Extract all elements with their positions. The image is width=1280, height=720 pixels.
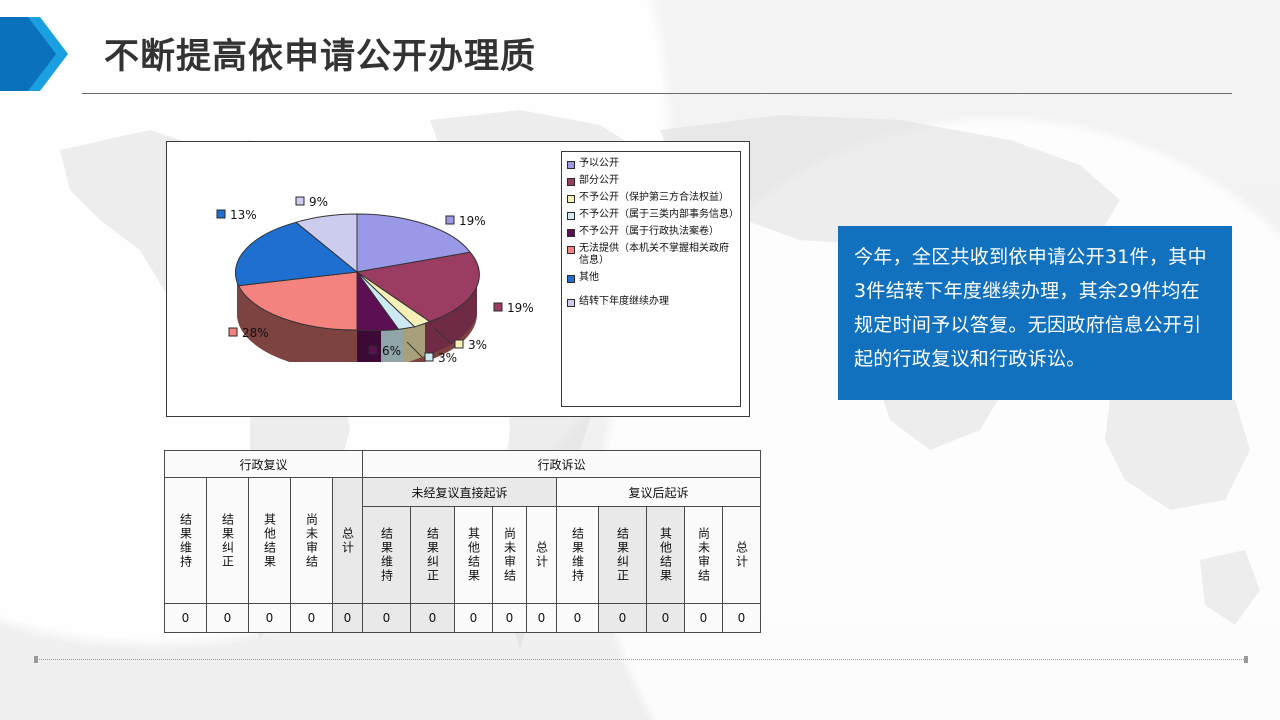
footer-dot-left-icon xyxy=(34,656,38,663)
svg-text:13%: 13% xyxy=(230,208,257,222)
chart-legend: 予以公开 部分公开 不予公开（保护第三方合法权益） 不予公开（属于三类内部事务信… xyxy=(561,151,741,407)
legend-item: 其他 xyxy=(567,272,736,284)
page-title: 不断提高依申请公开办理质 xyxy=(104,28,536,79)
pie-chart: 19% 19% 3% 3% 6% 28% 13% 9% xyxy=(167,142,557,416)
table-cell: 0 xyxy=(455,604,493,633)
legend-item: 不予公开（属于三类内部事务信息） xyxy=(567,209,736,221)
table-column-header: 总计 xyxy=(333,478,363,604)
table-column-header: 结果维持 xyxy=(165,478,207,604)
table-cell: 0 xyxy=(647,604,685,633)
table-group-header-cell: 行政复议 xyxy=(165,451,363,478)
svg-text:19%: 19% xyxy=(459,214,486,228)
table-column-header: 结果维持 xyxy=(363,507,411,604)
table-cell: 0 xyxy=(493,604,527,633)
legend-item: 予以公开 xyxy=(567,158,736,170)
legend-label: 无法提供（本机关不掌握相关政府信息） xyxy=(579,243,736,267)
table-cell: 0 xyxy=(363,604,411,633)
svg-text:3%: 3% xyxy=(438,351,457,365)
table-cell: 0 xyxy=(207,604,249,633)
summary-callout-box: 今年，全区共收到依申请公开31件，其中3件结转下年度继续办理，其余29件均在规定… xyxy=(838,226,1232,400)
legend-item: 不予公开（属于行政执法案卷） xyxy=(567,226,736,238)
svg-text:3%: 3% xyxy=(468,338,487,352)
summary-callout-text: 今年，全区共收到依申请公开31件，其中3件结转下年度继续办理，其余29件均在规定… xyxy=(854,240,1216,376)
pie-chart-panel: 19% 19% 3% 3% 6% 28% 13% 9% xyxy=(166,141,750,417)
table-column-header: 其他结果 xyxy=(455,507,493,604)
legend-swatch-icon xyxy=(567,246,575,254)
chevron-decoration-icon xyxy=(0,17,78,91)
legend-swatch-icon xyxy=(567,195,575,203)
table-group-header-row: 行政复议 行政诉讼 xyxy=(165,451,761,478)
legend-label: 不予公开（属于行政执法案卷） xyxy=(579,226,719,238)
table-cell: 0 xyxy=(249,604,291,633)
table-cell: 0 xyxy=(333,604,363,633)
table-sub-header-cell: 复议后起诉 xyxy=(557,478,761,507)
svg-text:9%: 9% xyxy=(309,195,328,209)
footer-divider xyxy=(36,659,1246,661)
legend-label: 其他 xyxy=(579,272,599,284)
legend-label: 结转下年度继续办理 xyxy=(579,296,669,308)
table-column-header: 尚未审结 xyxy=(291,478,333,604)
table-cell: 0 xyxy=(599,604,647,633)
footer-dot-right-icon xyxy=(1244,656,1248,663)
table-column-header: 尚未审结 xyxy=(685,507,723,604)
table-column-header: 结果纠正 xyxy=(207,478,249,604)
legend-swatch-icon xyxy=(567,229,575,237)
legend-swatch-icon xyxy=(567,161,575,169)
svg-text:28%: 28% xyxy=(242,326,269,340)
table-column-header: 结果纠正 xyxy=(411,507,455,604)
legend-swatch-icon xyxy=(567,275,575,283)
table-cell: 0 xyxy=(291,604,333,633)
legend-label: 不予公开（保护第三方合法权益） xyxy=(579,192,729,204)
table-column-header: 结果维持 xyxy=(557,507,599,604)
svg-text:19%: 19% xyxy=(507,301,534,315)
pie-slices xyxy=(235,214,479,331)
svg-text:6%: 6% xyxy=(382,344,401,358)
table-sub-header-row: 结果维持 结果纠正 其他结果 尚未审结 总计 未经复议直接起诉 复议后起诉 xyxy=(165,478,761,507)
table-cell: 0 xyxy=(685,604,723,633)
table-group-header-cell: 行政诉讼 xyxy=(363,451,761,478)
table-cell: 0 xyxy=(411,604,455,633)
legend-swatch-icon xyxy=(567,212,575,220)
legend-item: 不予公开（保护第三方合法权益） xyxy=(567,192,736,204)
table-column-header: 总计 xyxy=(527,507,557,604)
header-divider xyxy=(82,93,1232,94)
table-cell: 0 xyxy=(527,604,557,633)
legend-label: 予以公开 xyxy=(579,158,619,170)
table-column-header: 尚未审结 xyxy=(493,507,527,604)
slide-header: 不断提高依申请公开办理质 xyxy=(0,0,1280,110)
legend-item: 无法提供（本机关不掌握相关政府信息） xyxy=(567,243,736,267)
table-cell: 0 xyxy=(557,604,599,633)
legend-swatch-icon xyxy=(567,178,575,186)
table-cell: 0 xyxy=(723,604,761,633)
table-row: 0 0 0 0 0 0 0 0 0 0 0 0 0 0 0 xyxy=(165,604,761,633)
legend-label: 部分公开 xyxy=(579,175,619,187)
table-cell: 0 xyxy=(165,604,207,633)
statistics-table: 行政复议 行政诉讼 结果维持 结果纠正 其他结果 尚未审结 总计 未经复议直接起… xyxy=(164,450,761,633)
table-sub-header-cell: 未经复议直接起诉 xyxy=(363,478,557,507)
table-column-header: 其他结果 xyxy=(647,507,685,604)
legend-item: 结转下年度继续办理 xyxy=(567,296,736,308)
table-column-header: 其他结果 xyxy=(249,478,291,604)
legend-item: 部分公开 xyxy=(567,175,736,187)
legend-label: 不予公开（属于三类内部事务信息） xyxy=(579,209,736,221)
table-column-header: 总计 xyxy=(723,507,761,604)
legend-swatch-icon xyxy=(567,299,575,307)
table-column-header: 结果纠正 xyxy=(599,507,647,604)
